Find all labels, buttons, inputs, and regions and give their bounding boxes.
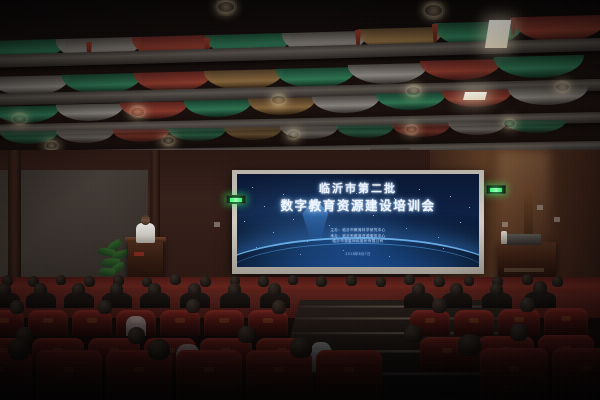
ceiling-drape — [336, 125, 394, 138]
slide-date: 2018年6月7日 — [237, 251, 479, 256]
speaker-head — [141, 215, 150, 225]
projection-screen: 临沂市第二批 数字教育资源建设培训会 主办：临沂市教育科学研究中心 承办：临沂市… — [237, 174, 479, 267]
ceiling-downlight-icon — [272, 96, 285, 104]
slide-organizer-3: 临沂市视星网络股份有限公司 — [237, 239, 479, 245]
ceiling-drape — [348, 63, 428, 85]
ceiling-drape — [494, 55, 584, 79]
ceiling-downlight-icon — [425, 5, 442, 16]
podium-emblem — [134, 252, 144, 256]
ceiling-downlight-icon — [407, 87, 420, 95]
ceiling-drape — [56, 130, 114, 143]
ceiling-downlight-icon — [131, 108, 144, 116]
speaker-torso — [136, 223, 155, 243]
ceiling-downlight-icon — [46, 142, 57, 149]
ceiling-drape — [508, 86, 588, 106]
slide-title-line1: 临沂市第二批 — [237, 182, 479, 196]
ceiling — [0, 0, 600, 162]
ceiling-drape — [312, 95, 380, 113]
exit-sign-icon-left — [226, 195, 246, 204]
audience-area — [0, 268, 600, 400]
ceiling-downlight-icon — [13, 115, 26, 123]
audience-row-front — [0, 336, 600, 400]
ceiling-downlight-icon — [556, 83, 569, 91]
ceiling-drape — [448, 122, 506, 135]
projector-unit — [505, 234, 541, 245]
ceiling-panel-light — [463, 92, 487, 100]
ceiling-downlight-icon — [406, 126, 417, 133]
ceiling-drape — [184, 99, 252, 117]
water-bottle — [501, 231, 507, 244]
wall-plate — [554, 217, 560, 222]
slide-title-line2: 数字教育资源建设培训会 — [237, 198, 479, 214]
wall-plate — [537, 205, 543, 210]
ceiling-downlight-icon — [504, 120, 515, 127]
wall-pillar — [8, 150, 21, 285]
ceiling-downlight-icon — [218, 2, 234, 12]
ceiling-downlight-icon — [288, 131, 299, 138]
ceiling-drape — [420, 59, 502, 81]
slide-text-block: 临沂市第二批 数字教育资源建设培训会 主办：临沂市教育科学研究中心 承办：临沂市… — [237, 182, 479, 256]
ceiling-drape — [224, 127, 282, 140]
projection-screen-frame: 临沂市第二批 数字教育资源建设培训会 主办：临沂市教育科学研究中心 承办：临沂市… — [232, 170, 484, 274]
auditorium-photo: 临沂市第二批 数字教育资源建设培训会 主办：临沂市教育科学研究中心 承办：临沂市… — [0, 0, 600, 400]
wall-plate — [502, 222, 508, 227]
exit-sign-icon-right — [486, 185, 506, 194]
ceiling-panel-light — [485, 20, 511, 48]
wall-plate — [214, 222, 220, 227]
ceiling-downlight-icon — [163, 137, 174, 144]
ceiling-drape — [56, 103, 124, 121]
